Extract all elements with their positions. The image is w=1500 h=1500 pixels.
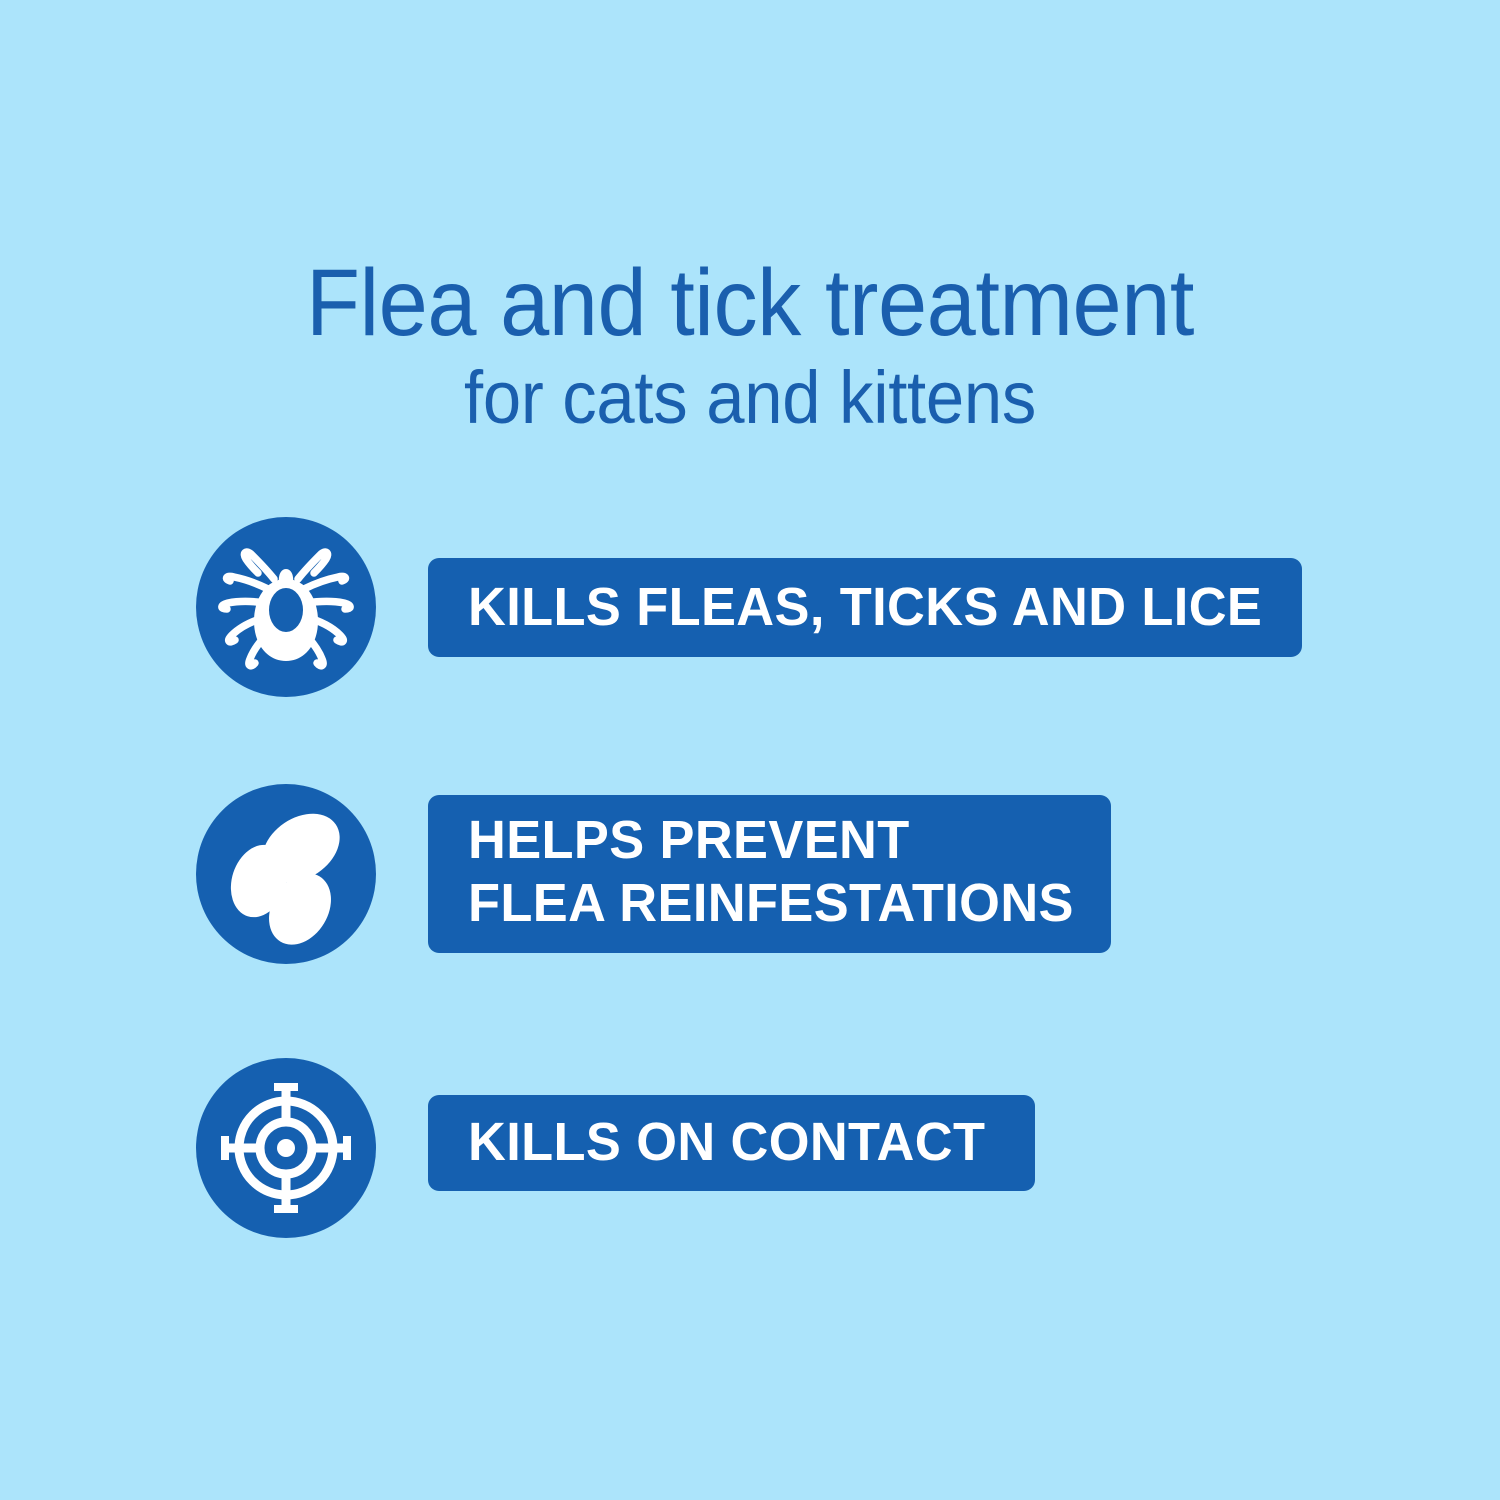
page-subtitle: for cats and kittens — [53, 361, 1448, 435]
benefit-pill: KILLS ON CONTACT — [428, 1095, 1035, 1191]
benefit-pill: HELPS PREVENT FLEA REINFESTATIONS — [428, 795, 1111, 953]
flea-eggs-icon — [196, 784, 376, 964]
headline-block: Flea and tick treatment for cats and kit… — [0, 256, 1500, 435]
benefit-text: HELPS PREVENT — [468, 809, 1092, 872]
benefit-pill: KILLS FLEAS, TICKS AND LICE — [428, 558, 1302, 657]
benefit-text: KILLS ON CONTACT — [468, 1111, 1018, 1174]
page-title: Flea and tick treatment — [53, 256, 1448, 351]
benefit-text: KILLS FLEAS, TICKS AND LICE — [468, 576, 1277, 639]
benefit-text: FLEA REINFESTATIONS — [468, 872, 1092, 935]
crosshair-target-icon — [196, 1058, 376, 1238]
product-benefits-panel: Flea and tick treatment for cats and kit… — [0, 0, 1500, 1500]
tick-icon — [196, 517, 376, 697]
